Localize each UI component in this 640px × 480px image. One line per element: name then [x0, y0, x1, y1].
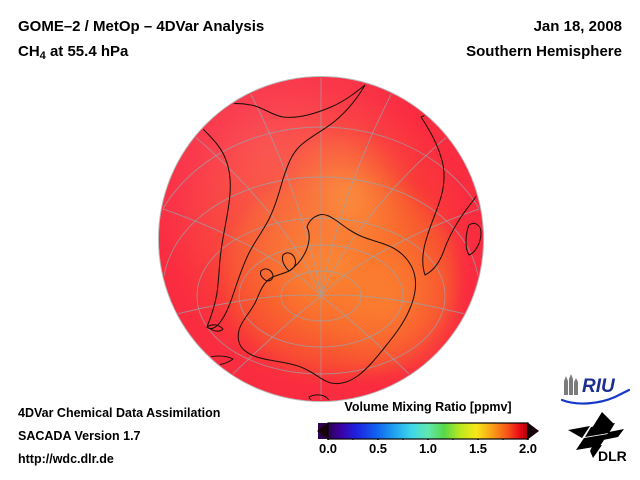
coastline-australia: [482, 187, 483, 211]
colorbar-gradient-body: [328, 423, 528, 439]
coastline-madagascar: [466, 223, 481, 255]
coastline-antarctica-detail-1: [282, 253, 295, 271]
pressure-level-label: at 55.4 hPa: [46, 43, 129, 60]
website-link[interactable]: http://wdc.dlr.de: [18, 448, 220, 471]
analysis-title: GOME–2 / MetOp – 4DVar Analysis: [18, 14, 264, 39]
coastline-africa: [421, 111, 483, 275]
colorbar-tick-4: 2.0: [519, 441, 537, 456]
dlr-logo[interactable]: DLR: [562, 411, 636, 463]
colorbar-svg: [312, 420, 544, 440]
footer-left-block: 4DVar Chemical Data Assimilation SACADA …: [18, 402, 220, 471]
species-label: CH: [18, 43, 40, 60]
region-label: Southern Hemisphere: [466, 39, 622, 64]
date-label: Jan 18, 2008: [466, 14, 622, 39]
coastline-antarctica-detail-2: [260, 269, 273, 281]
species-level-line: CH4 at 55.4 hPa: [18, 39, 264, 69]
colorbar-tick-labels: 0.0 0.5 1.0 1.5 2.0: [312, 441, 544, 459]
coastline-south-shetland: [203, 356, 233, 365]
colorbar-tick-0: 0.0: [319, 441, 337, 456]
assimilation-label: 4DVar Chemical Data Assimilation: [18, 402, 220, 425]
colorbar-tick-2: 1.0: [419, 441, 437, 456]
header-left-block: GOME–2 / MetOp – 4DVar Analysis CH4 at 5…: [18, 14, 264, 69]
globe-overlay-svg: [159, 77, 483, 401]
coastline-south-america: [195, 85, 365, 329]
colorbar-title: Volume Mixing Ratio [ppmv]: [312, 400, 544, 414]
colorbar-block: Volume Mixing Ratio [ppmv]: [312, 400, 544, 459]
colorbar-right-cap-arrow: [527, 422, 539, 440]
header-right-block: Jan 18, 2008 Southern Hemisphere: [466, 14, 622, 64]
riu-logo[interactable]: RIU: [557, 373, 637, 407]
graticule-meridians: [159, 77, 483, 401]
riu-tower-icon: [564, 374, 578, 395]
riu-wordmark: RIU: [582, 376, 616, 397]
colorbar-strip[interactable]: [312, 420, 544, 440]
dlr-wordmark: DLR: [598, 448, 627, 463]
colorbar-tick-1: 0.5: [369, 441, 387, 456]
colorbar-tick-3: 1.5: [469, 441, 487, 456]
globe-map-panel: [159, 77, 483, 401]
version-label: SACADA Version 1.7: [18, 425, 220, 448]
globe-disc: [159, 77, 483, 401]
